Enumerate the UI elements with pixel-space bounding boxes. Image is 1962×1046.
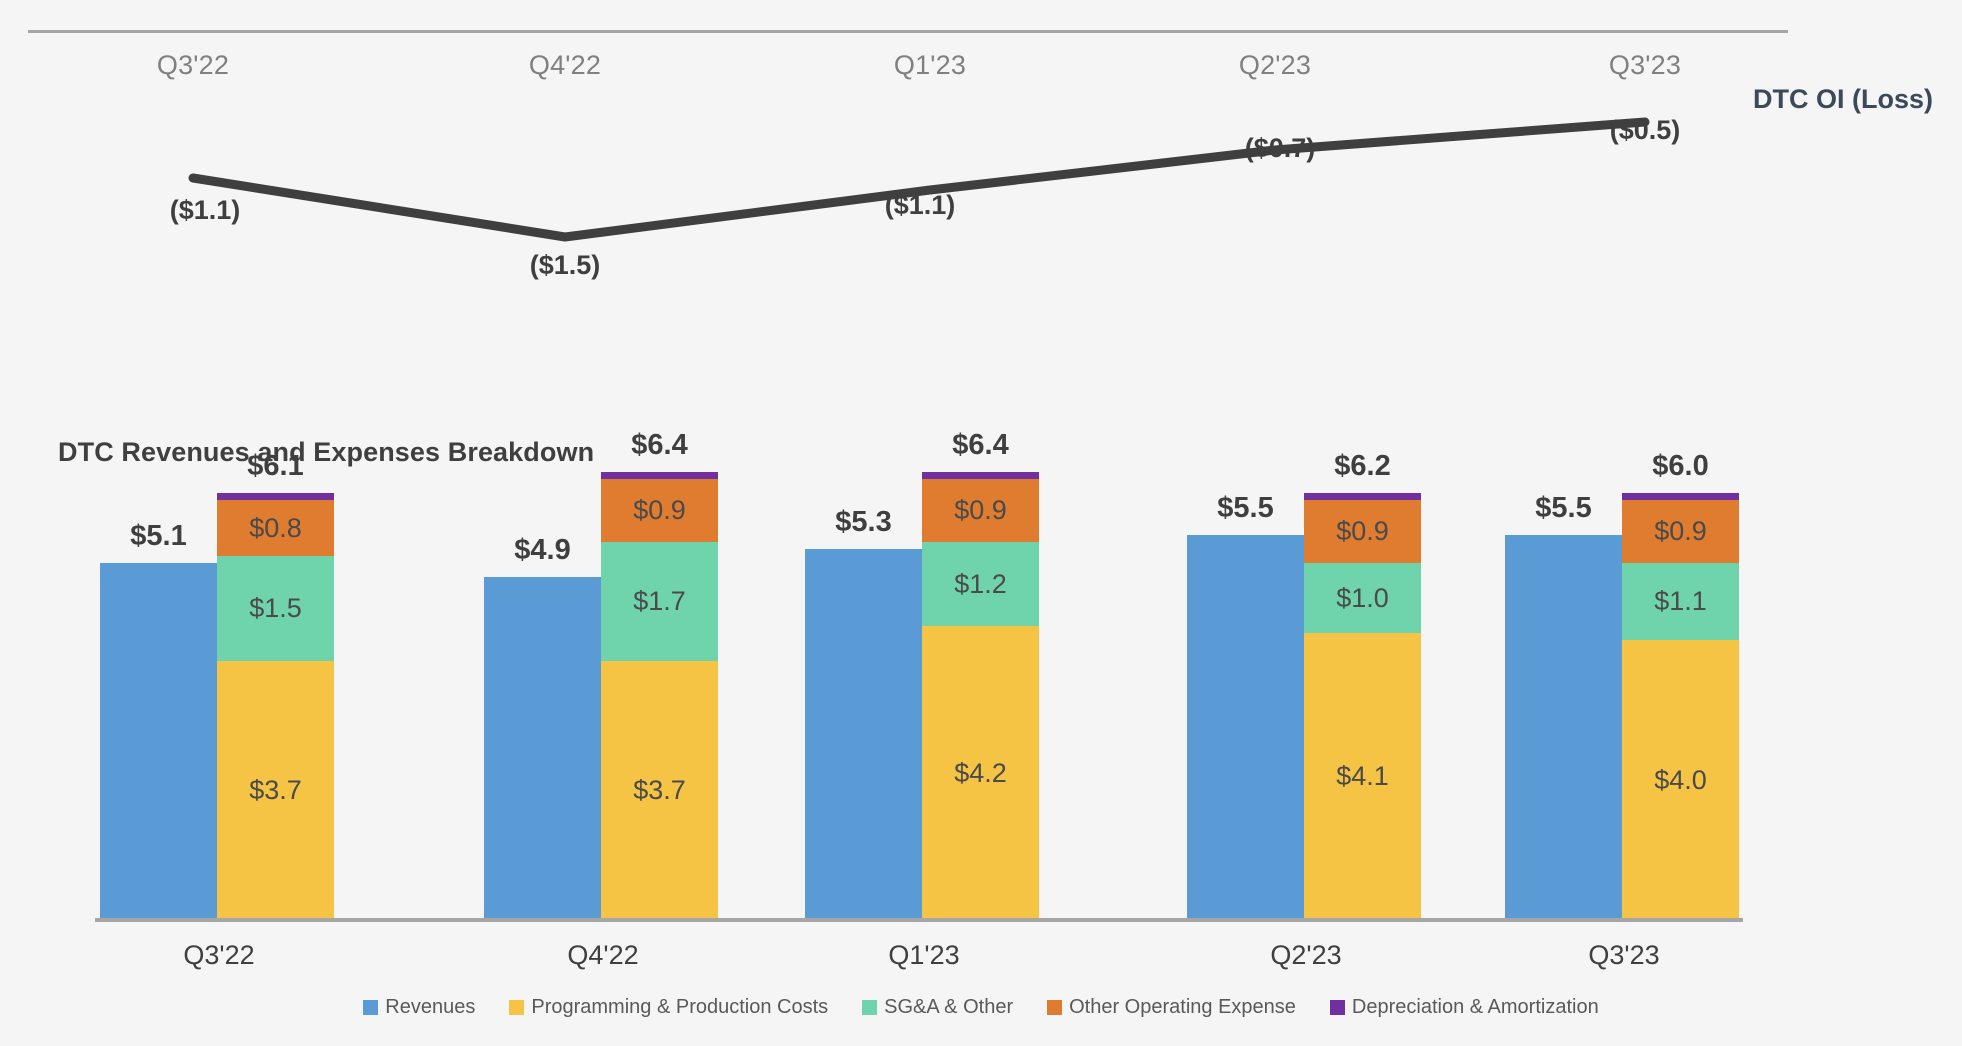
dtc-oi-line-path: [0, 0, 1962, 330]
bar-total-label-expenses: $6.2: [1334, 450, 1390, 483]
bar-revenues-Q123[interactable]: [805, 549, 922, 920]
bar-segment-depreciation-amortization[interactable]: [1304, 493, 1421, 500]
bar-expenses-stack-Q123[interactable]: $4.2$1.2$0.9: [922, 472, 1039, 920]
bar-segment-other-operating-expense[interactable]: $0.9: [922, 479, 1039, 542]
bar-segment-label-other-operating-expense: $0.9: [954, 495, 1007, 526]
legend-item[interactable]: Programming & Production Costs: [509, 996, 828, 1019]
bar-revenues-Q223[interactable]: [1187, 535, 1304, 920]
bar-segment-programming[interactable]: $4.2: [922, 626, 1039, 920]
bar-category-label-Q422: Q4'22: [567, 940, 638, 971]
bar-segment-sga-other[interactable]: $1.2: [922, 542, 1039, 626]
bar-total-label-revenues: $5.5: [1217, 492, 1273, 525]
bar-segment-label-sga-other: $1.0: [1336, 583, 1389, 614]
bar-segment-label-sga-other: $1.1: [1654, 586, 1707, 617]
bar-total-label-expenses: $6.4: [631, 429, 687, 462]
legend-swatch-icon: [1047, 1000, 1062, 1015]
line-point-label-Q322: ($1.1): [170, 195, 241, 226]
bar-total-label-revenues: $5.3: [835, 506, 891, 539]
legend-item[interactable]: Revenues: [363, 996, 475, 1019]
legend-item[interactable]: Other Operating Expense: [1047, 996, 1296, 1019]
legend-swatch-icon: [1330, 1000, 1345, 1015]
bar-total-label-revenues: $4.9: [514, 534, 570, 567]
bar-revenues-Q323[interactable]: [1505, 535, 1622, 920]
bar-segment-programming[interactable]: $4.0: [1622, 640, 1739, 920]
bar-segment-label-other-operating-expense: $0.8: [249, 513, 302, 544]
bar-revenues-Q322[interactable]: [100, 563, 217, 920]
bar-segment-depreciation-amortization[interactable]: [1622, 493, 1739, 500]
bar-segment-label-programming: $3.7: [249, 775, 302, 806]
bar-total-label-expenses: $6.1: [247, 450, 303, 483]
line-point-label-Q422: ($1.5): [530, 250, 601, 281]
bar-category-label-Q123: Q1'23: [888, 940, 959, 971]
bar-segment-other-operating-expense[interactable]: $0.8: [217, 500, 334, 556]
legend-swatch-icon: [862, 1000, 877, 1015]
bar-segment-sga-other[interactable]: $1.0: [1304, 563, 1421, 633]
bar-segment-label-sga-other: $1.5: [249, 593, 302, 624]
bar-segment-label-other-operating-expense: $0.9: [633, 495, 686, 526]
chart-legend: RevenuesProgramming & Production CostsSG…: [0, 996, 1962, 1019]
bar-segment-depreciation-amortization[interactable]: [601, 472, 718, 479]
bar-expenses-stack-Q223[interactable]: $4.1$1.0$0.9: [1304, 493, 1421, 920]
bar-expenses-stack-Q422[interactable]: $3.7$1.7$0.9: [601, 472, 718, 920]
bar-segment-sga-other[interactable]: $1.1: [1622, 563, 1739, 640]
bar-category-label-Q223: Q2'23: [1270, 940, 1341, 971]
legend-swatch-icon: [363, 1000, 378, 1015]
legend-label: SG&A & Other: [884, 996, 1013, 1019]
dtc-oi-line-chart: Q3'22Q4'22Q1'23Q2'23Q3'23 ($1.1)($1.5)($…: [0, 0, 1962, 330]
legend-item[interactable]: Depreciation & Amortization: [1330, 996, 1599, 1019]
bar-segment-other-operating-expense[interactable]: $0.9: [601, 479, 718, 542]
bar-total-label-revenues: $5.1: [130, 520, 186, 553]
bar-segment-label-programming: $4.1: [1336, 761, 1389, 792]
legend-label: Programming & Production Costs: [531, 996, 828, 1019]
bar-expenses-stack-Q322[interactable]: $3.7$1.5$0.8: [217, 493, 334, 920]
line-point-label-Q323: ($0.5): [1610, 115, 1681, 146]
bar-expenses-stack-Q323[interactable]: $4.0$1.1$0.9: [1622, 493, 1739, 920]
bar-revenues-Q422[interactable]: [484, 577, 601, 920]
bar-segment-label-programming: $4.2: [954, 758, 1007, 789]
bar-segment-label-programming: $3.7: [633, 775, 686, 806]
bar-plot-area: $5.1$3.7$1.5$0.8$6.1$4.9$3.7$1.7$0.9$6.4…: [95, 430, 1743, 920]
series-label-dtc-oi: DTC OI (Loss): [1753, 84, 1933, 115]
bar-segment-label-sga-other: $1.7: [633, 586, 686, 617]
bar-segment-other-operating-expense[interactable]: $0.9: [1622, 500, 1739, 563]
bar-total-label-expenses: $6.4: [952, 429, 1008, 462]
bar-segment-other-operating-expense[interactable]: $0.9: [1304, 500, 1421, 563]
legend-label: Depreciation & Amortization: [1352, 996, 1599, 1019]
bar-total-label-expenses: $6.0: [1652, 450, 1708, 483]
legend-label: Other Operating Expense: [1069, 996, 1296, 1019]
line-point-label-Q123: ($1.1): [885, 190, 956, 221]
bar-category-label-Q322: Q3'22: [183, 940, 254, 971]
bar-segment-depreciation-amortization[interactable]: [217, 493, 334, 500]
bar-segment-label-other-operating-expense: $0.9: [1654, 516, 1707, 547]
legend-swatch-icon: [509, 1000, 524, 1015]
line-point-label-Q223: ($0.7): [1245, 133, 1316, 164]
bar-segment-depreciation-amortization[interactable]: [922, 472, 1039, 479]
bar-segment-label-sga-other: $1.2: [954, 569, 1007, 600]
legend-item[interactable]: SG&A & Other: [862, 996, 1013, 1019]
legend-label: Revenues: [385, 996, 475, 1019]
bar-total-label-revenues: $5.5: [1535, 492, 1591, 525]
bar-segment-label-other-operating-expense: $0.9: [1336, 516, 1389, 547]
bar-category-label-Q323: Q3'23: [1588, 940, 1659, 971]
bar-segment-programming[interactable]: $3.7: [217, 661, 334, 920]
bar-segment-label-programming: $4.0: [1654, 765, 1707, 796]
bar-segment-sga-other[interactable]: $1.7: [601, 542, 718, 661]
chart-canvas: Q3'22Q4'22Q1'23Q2'23Q3'23 ($1.1)($1.5)($…: [0, 0, 1962, 1046]
bar-segment-programming[interactable]: $3.7: [601, 661, 718, 920]
bar-segment-programming[interactable]: $4.1: [1304, 633, 1421, 920]
bar-segment-sga-other[interactable]: $1.5: [217, 556, 334, 661]
bar-axis-line: [95, 918, 1743, 922]
